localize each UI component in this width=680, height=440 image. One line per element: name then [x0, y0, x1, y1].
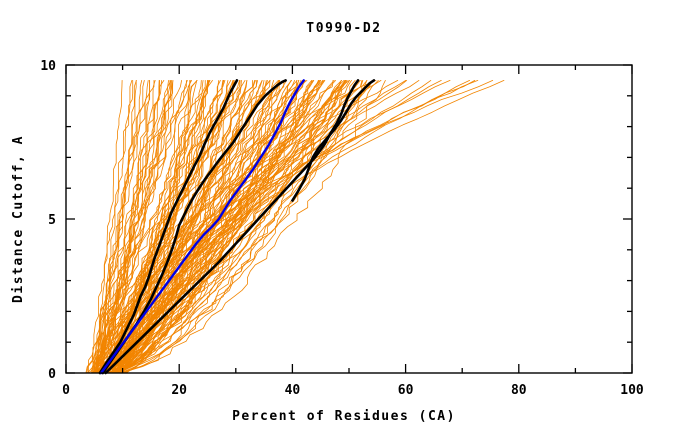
- y-axis-label: Distance Cutoff, A: [11, 135, 26, 303]
- x-tick-label: 0: [62, 383, 70, 398]
- x-tick-label: 40: [285, 383, 301, 398]
- y-tick-label: 5: [48, 213, 56, 228]
- page-title: T0990-D2: [306, 21, 381, 36]
- x-tick-label: 80: [511, 383, 527, 398]
- x-tick-label: 20: [171, 383, 187, 398]
- x-tick-label: 100: [620, 383, 644, 398]
- x-tick-label: 60: [398, 383, 414, 398]
- plot-figure: T0990-D2 0204060801000510 Percent of Res…: [0, 0, 680, 440]
- y-tick-label: 0: [48, 367, 56, 382]
- x-axis-label: Percent of Residues (CA): [232, 409, 456, 424]
- plot-svg: T0990-D2 0204060801000510 Percent of Res…: [0, 0, 680, 440]
- y-tick-label: 10: [40, 59, 56, 74]
